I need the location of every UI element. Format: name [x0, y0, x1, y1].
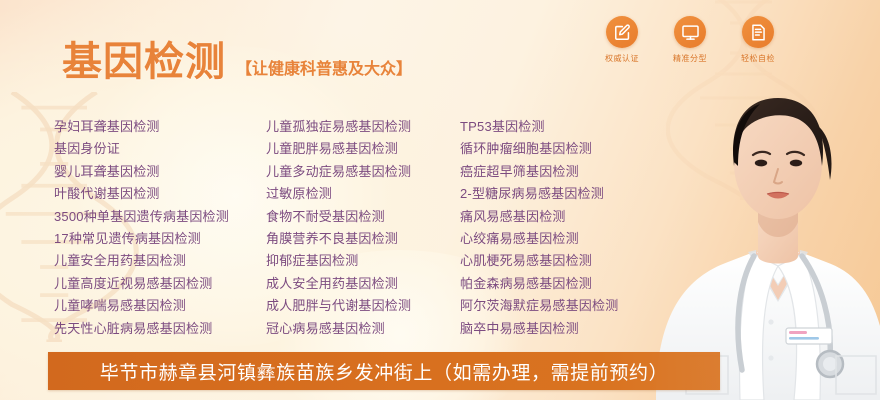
list-item[interactable]: 冠心病易感基因检测 [266, 318, 460, 340]
doctor-photo [650, 0, 880, 400]
page-subtitle: 【让健康科普惠及大众】 [236, 55, 412, 82]
list-item[interactable]: 3500种单基因遗传病基因检测 [54, 206, 266, 228]
list-item[interactable]: 儿童肥胖易感基因检测 [266, 138, 460, 160]
list-item[interactable]: 先天性心脏病易感基因检测 [54, 318, 266, 340]
address-banner: 毕节市赫章县河镇彝族苗族乡发冲街上（如需办理，需提前预约） [48, 352, 720, 390]
list-item[interactable]: 孕妇耳聋基因检测 [54, 116, 266, 138]
list-item[interactable]: 儿童高度近视易感基因检测 [54, 273, 266, 295]
list-item[interactable]: 婴儿耳聋基因检测 [54, 161, 266, 183]
badge-authority-certification[interactable]: 权威认证 [596, 16, 648, 64]
list-item[interactable]: 成人肥胖与代谢基因检测 [266, 295, 460, 317]
list-item[interactable]: 抑郁症基因检测 [266, 250, 460, 272]
list-item[interactable]: 儿童孤独症易感基因检测 [266, 116, 460, 138]
address-banner-text: 毕节市赫章县河镇彝族苗族乡发冲街上（如需办理，需提前预约） [100, 358, 668, 385]
list-item[interactable]: 儿童安全用药基因检测 [54, 250, 266, 272]
list-item[interactable]: 过敏原检测 [266, 183, 460, 205]
list-item[interactable]: 17种常见遗传病基因检测 [54, 228, 266, 250]
service-list-column-2: 儿童孤独症易感基因检测 儿童肥胖易感基因检测 儿童多动症易感基因检测 过敏原检测… [266, 116, 460, 340]
service-lists: 孕妇耳聋基因检测 基因身份证 婴儿耳聋基因检测 叶酸代谢基因检测 3500种单基… [54, 116, 694, 340]
service-list-column-1: 孕妇耳聋基因检测 基因身份证 婴儿耳聋基因检测 叶酸代谢基因检测 3500种单基… [54, 116, 266, 340]
poster-heading: 基因检测 【让健康科普惠及大众】 [62, 42, 412, 82]
list-item[interactable]: 成人安全用药基因检测 [266, 273, 460, 295]
page-title: 基因检测 [62, 42, 226, 82]
list-item[interactable]: 儿童哮喘易感基因检测 [54, 295, 266, 317]
list-item[interactable]: 叶酸代谢基因检测 [54, 183, 266, 205]
list-item[interactable]: 角膜营养不良基因检测 [266, 228, 460, 250]
list-item[interactable]: 食物不耐受基因检测 [266, 206, 460, 228]
edit-certificate-icon [606, 16, 638, 48]
list-item[interactable]: 儿童多动症易感基因检测 [266, 161, 460, 183]
badge-label: 权威认证 [605, 53, 639, 64]
poster-root: 基因检测 【让健康科普惠及大众】 权威认证 精准分型 [0, 0, 880, 400]
list-item[interactable]: 基因身份证 [54, 138, 266, 160]
